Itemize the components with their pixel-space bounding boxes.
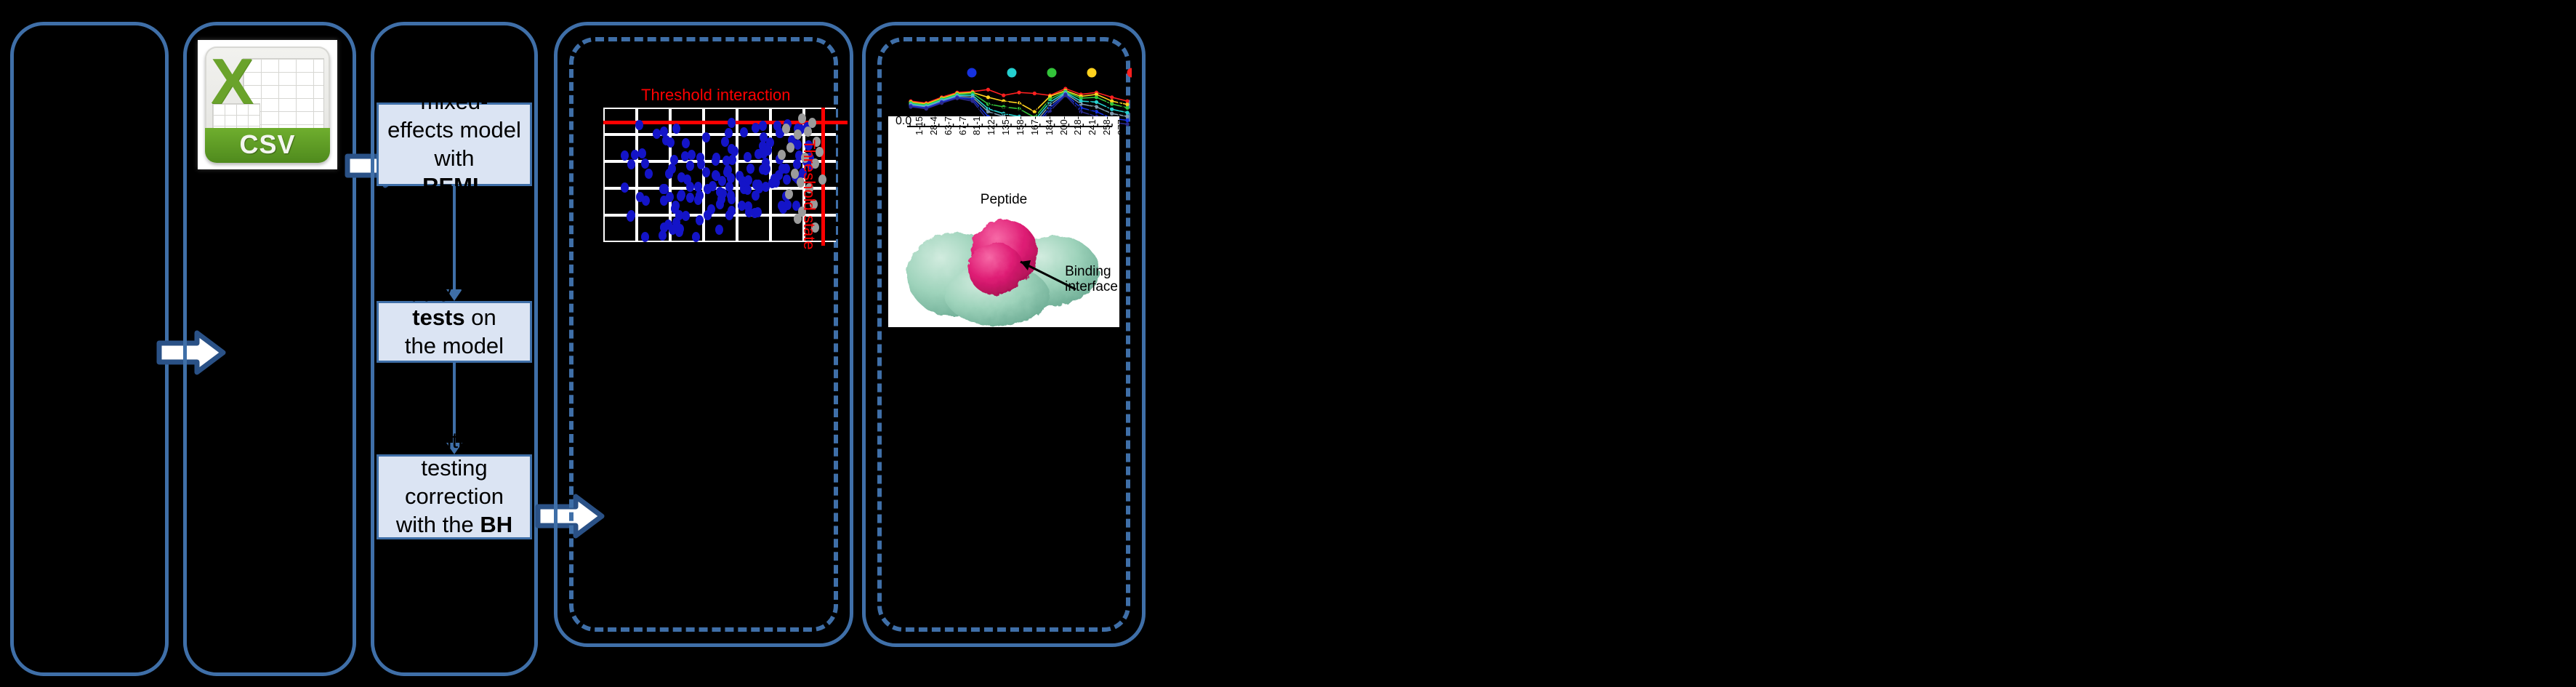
scatter-point-significant xyxy=(740,127,748,137)
peptide-tick-label: 28-44 xyxy=(928,111,939,135)
scatter-point-significant xyxy=(694,195,702,205)
scatter-point-nonsignificant xyxy=(786,142,794,153)
scatter-point-significant xyxy=(696,153,704,163)
scatter-point-nonsignificant xyxy=(804,126,812,137)
peptide-point xyxy=(1033,92,1037,95)
scatter-point-significant xyxy=(715,225,723,235)
multiple-testing-box-text: Multiple testingcorrectionwith the BH pr… xyxy=(383,427,526,568)
scatter-point-significant xyxy=(653,129,661,139)
connector-model-to-wald xyxy=(453,186,456,290)
peptide-point xyxy=(986,95,990,99)
scatter-point-significant xyxy=(702,132,710,142)
scatter-point-nonsignificant xyxy=(794,129,802,140)
legend-marker-gold xyxy=(1087,68,1097,78)
peptide-tick-label: 67-75 xyxy=(957,111,968,135)
peptide-point xyxy=(1095,95,1098,99)
scatter-point-significant xyxy=(746,164,754,174)
scatter-point-significant xyxy=(694,182,702,192)
scatter-point-significant xyxy=(724,165,732,175)
peptide-tick-label: 200-214 xyxy=(1058,100,1069,135)
peptide-point xyxy=(1063,94,1067,97)
scatter-point-significant xyxy=(728,206,736,216)
empty-stage-panel xyxy=(10,22,169,676)
scatter-point-nonsignificant xyxy=(782,124,790,134)
binding-interface-line2: interface xyxy=(1065,279,1118,294)
scatter-point-significant xyxy=(704,210,712,220)
peptide-axis-title: Peptide xyxy=(894,192,1114,208)
peptide-point xyxy=(909,105,912,108)
peptide-point xyxy=(971,99,975,103)
peptide-tick-label: 1-15 xyxy=(914,116,925,135)
scatter-point-significant xyxy=(725,182,733,192)
fit-model-box[interactable]: Fit a linear mixed-effects model withREM… xyxy=(377,103,532,186)
peptide-tick-label: 135-144 xyxy=(1000,100,1011,135)
scatter-point-nonsignificant xyxy=(778,150,786,160)
threshold-interaction-label: Threshold interaction xyxy=(641,86,790,105)
figure-canvas: X CSV Fit a linear mixed-effects model w… xyxy=(0,0,2576,687)
scatter-point-nonsignificant xyxy=(798,113,806,124)
csv-label-band: CSV xyxy=(205,128,330,163)
scatter-point-nonsignificant xyxy=(818,174,826,185)
peptide-tick-label: 122-129 xyxy=(986,100,997,135)
wald-tests-box[interactable]: Apply Wald tests onthe model parameters xyxy=(377,301,532,363)
peptide-tick-label: 277-284 xyxy=(1116,100,1127,135)
csv-label: CSV xyxy=(205,129,330,160)
scatter-point-significant xyxy=(641,232,649,242)
scatter-point-nonsignificant xyxy=(791,169,799,179)
threshold-scatter-plot: Threshold interaction Threshold state xyxy=(596,87,836,244)
peptide-point xyxy=(1110,95,1114,99)
scatter-point-nonsignificant xyxy=(785,189,793,199)
peptide-figure-card: 0.0 1-1528-4463-7367-7581-101122-129135-… xyxy=(888,116,1119,327)
peptide-tick-label: 167-180 xyxy=(1029,100,1040,135)
multiple-testing-box[interactable]: Multiple testingcorrectionwith the BH pr… xyxy=(377,454,532,539)
legend-marker-cyan xyxy=(1007,68,1017,78)
scatter-point-significant xyxy=(659,230,667,241)
scatter-point-significant xyxy=(738,201,746,211)
scatter-point-significant xyxy=(704,184,712,194)
scatter-point-significant xyxy=(681,151,689,161)
scatter-point-significant xyxy=(762,164,770,174)
legend-marker-green xyxy=(1047,68,1057,78)
scatter-point-significant xyxy=(621,182,629,193)
peptide-point xyxy=(955,97,959,100)
peptide-tick-label: 184-199 xyxy=(1044,100,1055,135)
scatter-point-significant xyxy=(760,148,768,158)
scatter-point-significant xyxy=(759,121,767,131)
legend-marker-red xyxy=(1127,68,1132,78)
scatter-point-significant xyxy=(744,185,752,195)
peptide-point xyxy=(986,88,990,92)
peptide-point xyxy=(925,107,928,111)
protein-structure-image: Binding interface xyxy=(888,208,1119,327)
scatter-point-significant xyxy=(760,132,768,142)
peptide-point xyxy=(940,101,943,105)
csv-icon-body: X CSV xyxy=(205,47,330,163)
peptide-point xyxy=(1002,94,1005,97)
scatter-point-significant xyxy=(677,172,685,182)
scatter-point-significant xyxy=(660,196,668,206)
scatter-point-significant xyxy=(692,232,700,242)
scatter-point-significant xyxy=(736,171,744,181)
threshold-state-label: Threshold state xyxy=(800,140,818,250)
peptide-axis-block: 0.0 1-1528-4463-7367-7581-101122-129135-… xyxy=(894,119,1114,209)
scatter-point-significant xyxy=(686,161,694,171)
legend-marker-blue xyxy=(967,68,977,78)
binding-interface-annotation: Binding interface xyxy=(1065,265,1118,295)
excel-x-glyph: X xyxy=(211,49,254,113)
peptide-tick-label: 158-166 xyxy=(1015,100,1026,135)
peptide-tick-label: 63-73 xyxy=(943,111,954,135)
scatter-point-significant xyxy=(641,158,649,169)
peptide-tick-label: 241-257 xyxy=(1087,100,1098,135)
scatter-point-significant xyxy=(686,193,694,203)
peptide-point xyxy=(1017,91,1021,95)
scatter-point-significant xyxy=(712,153,720,163)
binding-interface-line1: Binding xyxy=(1065,264,1111,279)
peptide-tick-label: 218-237 xyxy=(1072,100,1083,135)
scatter-point-significant xyxy=(728,118,736,128)
scatter-point-significant xyxy=(696,215,704,225)
csv-file-icon[interactable]: X CSV xyxy=(198,40,337,169)
scatter-point-significant xyxy=(721,137,729,147)
scatter-point-significant xyxy=(728,144,736,154)
peptide-tick-label: 258-266 xyxy=(1101,100,1112,135)
scatter-point-significant xyxy=(682,138,690,148)
peptide-tick-label: 81-101 xyxy=(971,106,982,135)
